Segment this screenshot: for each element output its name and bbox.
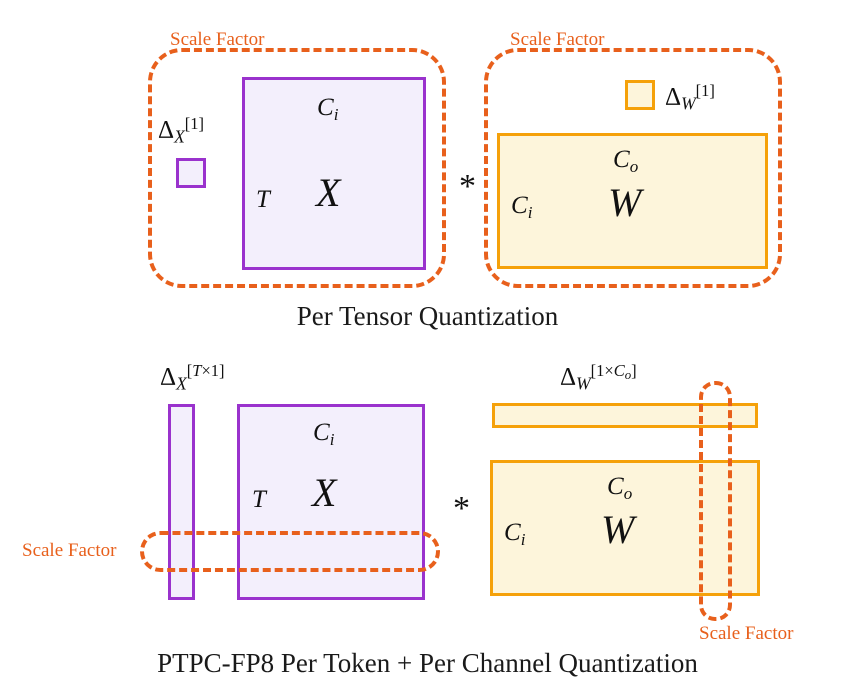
activation-tensor-name-per-tensor: X [316,173,340,213]
scale-factor-label-ptpc-activation: Scale Factor [22,541,116,560]
weight-scale-tensor-per-tensor [625,80,655,110]
delta-superscript: [1] [696,81,715,100]
delta-subscript: X [176,374,187,394]
activation-scale-tensor-per-tensor [176,158,206,188]
weight-row-dim-per-tensor: Ci [511,193,532,221]
delta-symbol: Δ [560,363,576,390]
delta-subscript: X [174,127,185,147]
weight-col-dim-per-tensor: Co [613,147,638,175]
delta-superscript: [1] [185,114,204,133]
weight-row-dim-ptpc: Ci [504,520,525,548]
delta-symbol: Δ [160,363,176,390]
caption-ptpc-quantization: PTPC-FP8 Per Token + Per Channel Quantiz… [0,650,855,677]
scale-factor-region-ptpc-weight [699,381,732,621]
delta-x-label-per-tensor: ΔX[1] [158,116,204,146]
activation-tensor-name-ptpc: X [312,473,336,513]
delta-superscript: [T×1] [187,361,225,380]
delta-w-label-per-tensor: ΔW[1] [665,83,715,113]
delta-x-label-ptpc: ΔX[T×1] [160,363,225,393]
weight-tensor-name-ptpc: W [601,510,634,550]
delta-symbol: Δ [158,116,174,143]
multiply-operator-ptpc: * [453,492,470,526]
weight-col-dim-ptpc: Co [607,474,632,502]
figure-canvas: Scale Factor ΔX[1] Ci T X * Scale Factor… [0,0,855,693]
scale-factor-label-ptpc-weight: Scale Factor [699,624,793,643]
activation-row-dim-per-tensor: T [256,187,270,212]
caption-per-tensor-quantization: Per Tensor Quantization [0,303,855,330]
activation-row-dim-ptpc: T [252,487,266,512]
activation-col-dim-ptpc: Ci [313,420,334,448]
delta-symbol: Δ [665,83,681,110]
delta-w-label-ptpc: ΔW[1×Co] [560,363,637,393]
scale-factor-label-per-tensor-activation: Scale Factor [170,30,264,49]
weight-tensor-name-per-tensor: W [608,183,641,223]
scale-factor-label-per-tensor-weight: Scale Factor [510,30,604,49]
activation-col-dim-per-tensor: Ci [317,95,338,123]
delta-superscript: [1×Co] [591,361,637,380]
multiply-operator-per-tensor: * [459,170,476,204]
delta-subscript: W [576,374,591,394]
delta-subscript: W [681,94,696,114]
scale-factor-region-ptpc-activation [140,531,440,572]
